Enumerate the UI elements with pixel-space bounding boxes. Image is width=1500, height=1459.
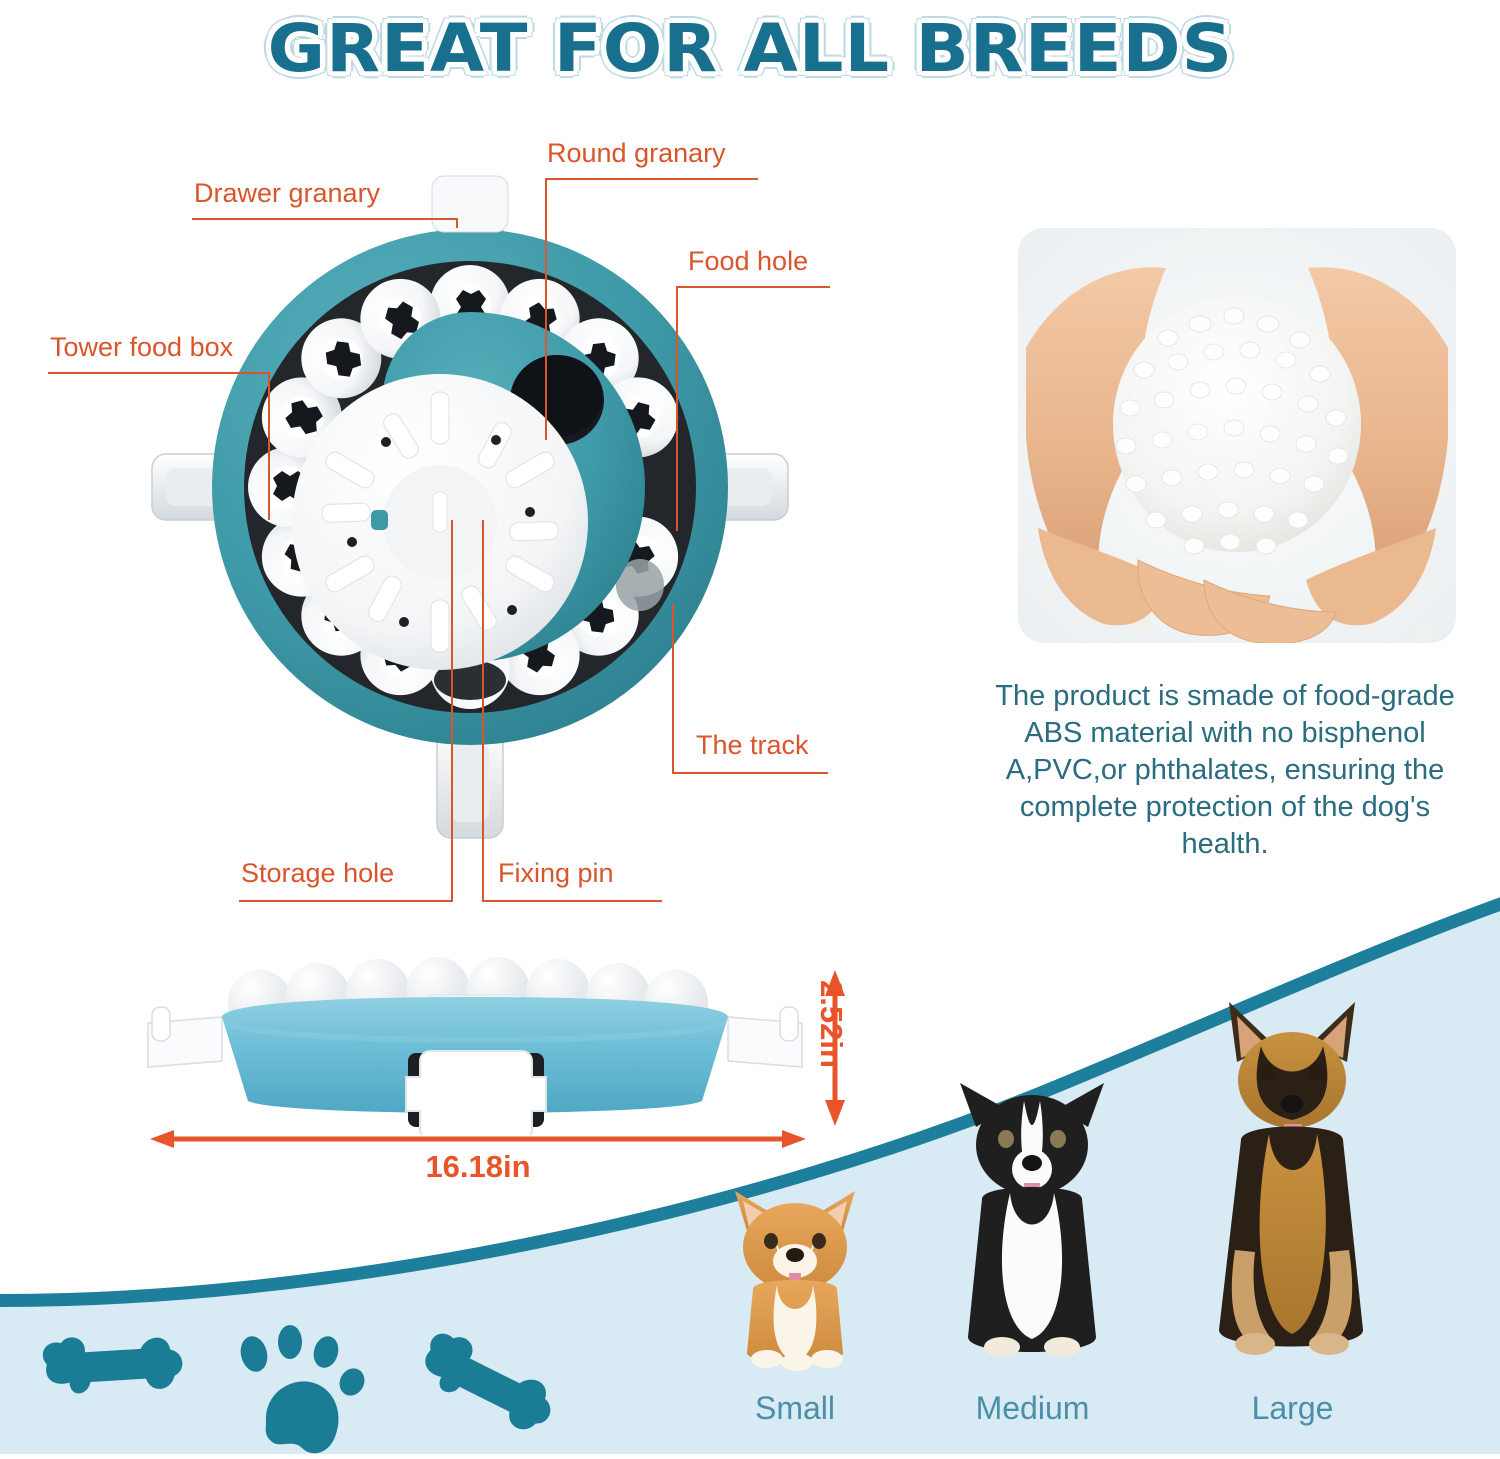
callout-label: Tower food box — [46, 332, 237, 366]
leader-line-the-track — [672, 772, 828, 774]
callout-label: Round granary — [543, 138, 730, 172]
leader-drop-tower-food-box — [268, 372, 270, 520]
bone-icon — [38, 1307, 188, 1422]
bone-icon — [415, 1331, 561, 1434]
width-label: 16.18in — [148, 1149, 808, 1185]
paw-icon — [237, 1325, 369, 1453]
leader-line-drawer-granary — [192, 218, 458, 220]
callout-round-granary: Round granary — [543, 138, 730, 172]
breed-label-large: Large — [1185, 1390, 1400, 1427]
leader-line-food-hole — [676, 286, 830, 288]
fixing-pin-nub — [371, 510, 388, 530]
callout-drawer-granary: Drawer granary — [190, 178, 384, 212]
height-dimension: 2.52in — [815, 968, 907, 1128]
page-title: GREAT FOR ALL BREEDS — [267, 10, 1232, 87]
material-description: The product is smade of food-grade ABS m… — [985, 678, 1465, 863]
leader-drop-food-hole — [676, 286, 678, 531]
leader-drop-the-track — [672, 604, 674, 774]
callout-fixing-pin: Fixing pin — [494, 858, 618, 892]
callout-the-track: The track — [692, 730, 813, 764]
decor-icon-row — [0, 1290, 660, 1454]
leader-line-fixing-pin — [482, 900, 662, 902]
breed-label-medium: Medium — [930, 1390, 1135, 1427]
breed-label-small: Small — [705, 1390, 885, 1427]
height-label: 2.52in — [813, 980, 849, 1112]
leader-line-tower-food-box — [48, 372, 270, 374]
callout-storage-hole: Storage hole — [237, 858, 398, 892]
leader-drop-storage-hole — [451, 520, 453, 902]
dog-small-corgi — [705, 1185, 885, 1385]
product-side-view — [130, 955, 820, 1135]
leader-line-round-granary — [545, 178, 758, 180]
leader-line-storage-hole — [239, 900, 453, 902]
abs-pellets-photo — [1018, 228, 1456, 643]
leader-drop-fixing-pin — [482, 520, 484, 902]
callout-label: Food hole — [684, 246, 812, 280]
callout-food-hole: Food hole — [684, 246, 812, 280]
header-banner: GREAT FOR ALL BREEDS — [0, 0, 1500, 96]
dog-medium-border-collie — [930, 1075, 1135, 1380]
callout-label: Fixing pin — [494, 858, 618, 892]
leader-drop-round-granary — [545, 178, 547, 440]
leader-tick-drawer-granary — [456, 218, 458, 228]
callout-tower-food-box: Tower food box — [46, 332, 237, 366]
dog-large-german-shepherd — [1185, 1000, 1400, 1380]
callout-label: Storage hole — [237, 858, 398, 892]
callout-label: Drawer granary — [190, 178, 384, 212]
callout-label: The track — [692, 730, 813, 764]
